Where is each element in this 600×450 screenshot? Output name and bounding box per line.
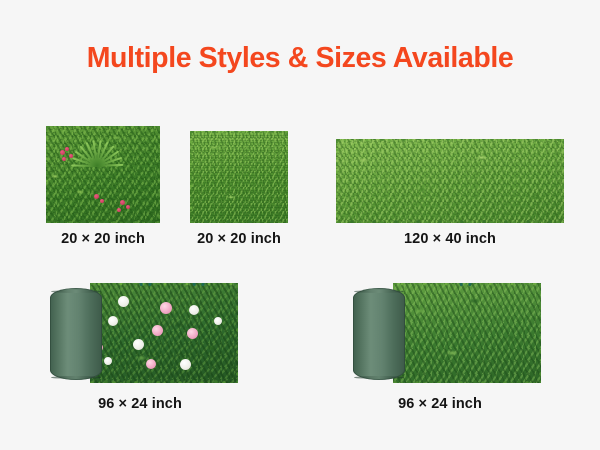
size-label-plain-hedge-roll: 96 × 24 inch xyxy=(360,396,520,412)
rose-flower xyxy=(146,359,156,369)
page-title: Multiple Styles & Sizes Available xyxy=(0,42,600,75)
flower-cluster xyxy=(69,154,73,158)
foliage-texture xyxy=(393,283,541,383)
flower-cluster xyxy=(120,200,125,205)
size-label-flowering-hedge-roll: 96 × 24 inch xyxy=(60,396,220,412)
rolled-mat xyxy=(50,288,102,380)
flower-cluster xyxy=(100,199,104,203)
rolled-mat xyxy=(353,288,405,380)
flower-cluster xyxy=(60,150,65,155)
flower-cluster xyxy=(65,147,69,151)
unrolled-mat xyxy=(90,283,238,383)
flower-cluster xyxy=(117,208,121,212)
rose-flower xyxy=(152,325,163,336)
rose-flower xyxy=(187,328,198,339)
rose-flower xyxy=(108,316,118,326)
product-image-wide-hedge-panel xyxy=(336,139,564,223)
product-image-plain-hedge-roll xyxy=(345,283,541,383)
product-image-mixed-tropical-panel xyxy=(46,126,160,223)
rose-flower xyxy=(133,339,144,350)
foliage-texture xyxy=(190,131,288,223)
flower-cluster xyxy=(94,194,99,199)
rose-flower xyxy=(104,357,112,365)
rose-flower xyxy=(118,296,129,307)
foliage-texture xyxy=(90,283,238,383)
size-label-wide-hedge-panel: 120 × 40 inch xyxy=(370,231,530,247)
product-image-flowering-hedge-roll xyxy=(42,283,238,383)
rose-flower xyxy=(214,317,222,325)
product-size-infographic: Multiple Styles & Sizes Available 20 × 2… xyxy=(0,0,600,450)
rose-flower xyxy=(160,302,172,314)
flower-cluster xyxy=(62,157,66,161)
foliage-texture xyxy=(336,139,564,223)
rose-flower xyxy=(189,305,199,315)
rose-flower xyxy=(180,359,191,370)
unrolled-mat xyxy=(393,283,541,383)
flower-cluster xyxy=(126,205,130,209)
size-label-fine-grass-panel: 20 × 20 inch xyxy=(159,231,319,247)
product-image-fine-grass-panel xyxy=(190,131,288,223)
foliage-texture xyxy=(46,126,160,223)
